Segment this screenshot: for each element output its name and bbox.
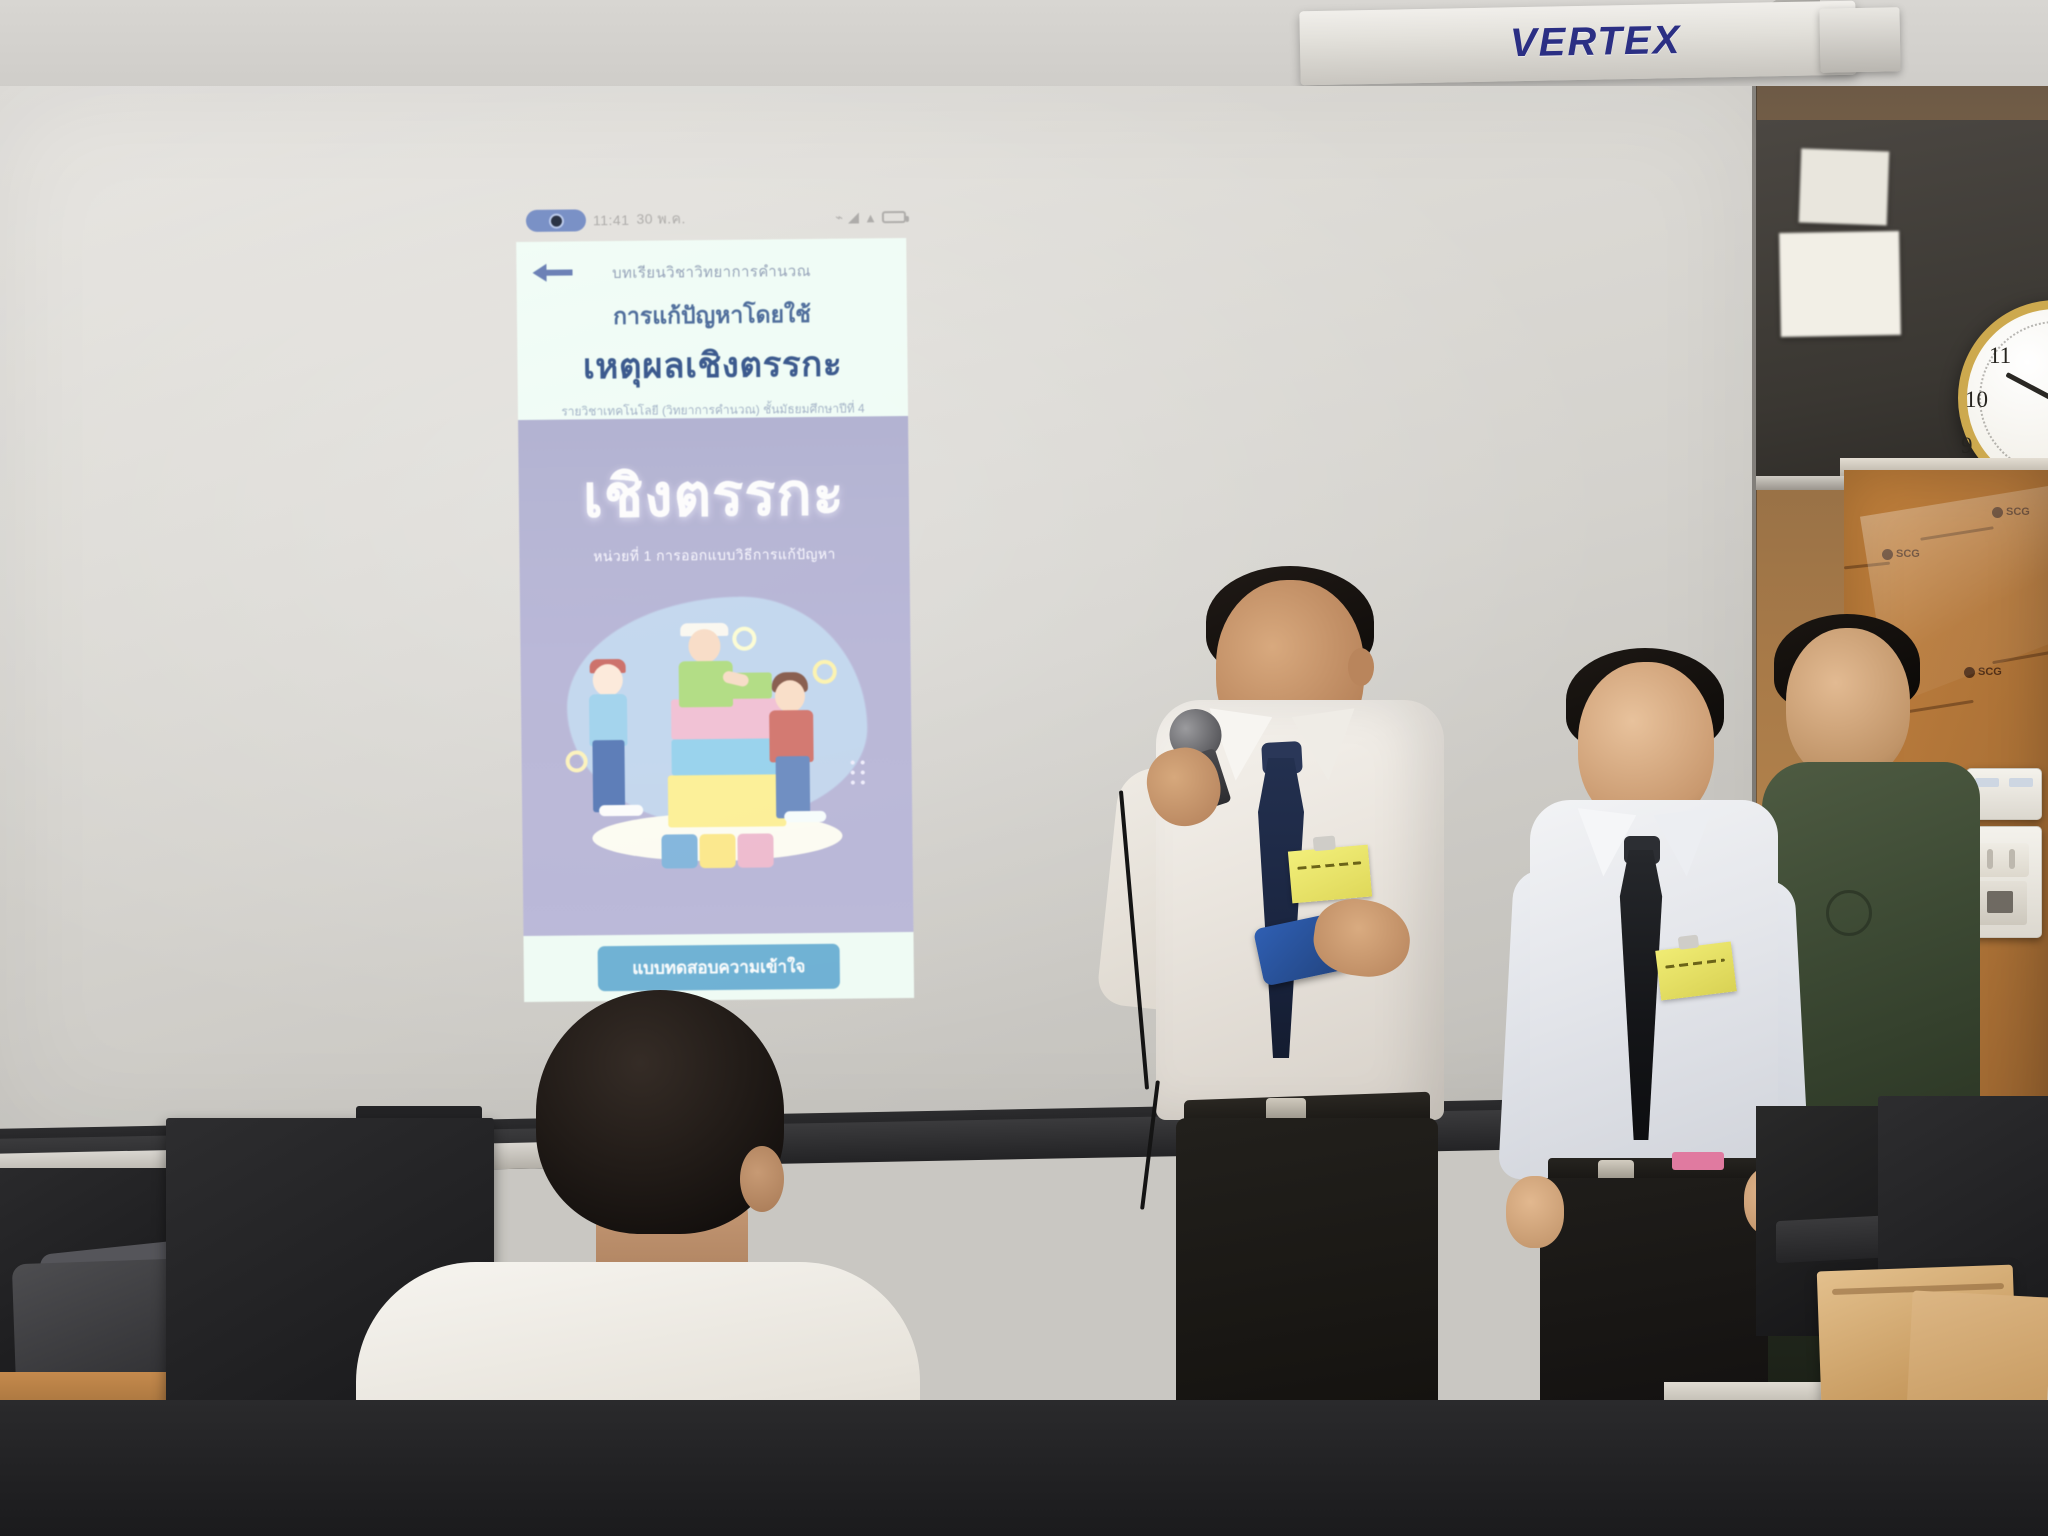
ear (740, 1146, 784, 1212)
illustration-person-left (581, 664, 639, 825)
puzzle-piece-blue (661, 834, 697, 868)
status-time: 11:41 (593, 212, 630, 228)
vertex-brand-logo: VERTEX (1510, 18, 1682, 66)
illustration-person-right (763, 672, 827, 825)
clock-numeral: 10 (1965, 387, 1988, 413)
left-hand (1506, 1176, 1564, 1248)
header-title-line2: เหตุผลเชิงตรรกะ (583, 337, 843, 395)
posted-paper (1799, 148, 1890, 225)
illustration-person-center (672, 625, 743, 736)
pink-badge (1672, 1152, 1724, 1170)
slide-unit-label: หน่วยที่ 1 การออกแบบวิธีการแก้ปัญหา (593, 544, 836, 569)
status-icons: ⌁ ▲ (835, 209, 906, 226)
clock-numeral: 11 (1989, 343, 2011, 369)
status-date: 30 พ.ค. (636, 208, 686, 231)
ear (1348, 648, 1374, 686)
meter-display (1975, 881, 2027, 925)
header-school-label: บทเรียนวิชาวิทยาการคำนวณ (612, 259, 811, 285)
slide-big-title: เชิงตรรกะ (582, 447, 845, 543)
face (1786, 628, 1910, 780)
header-title-line1: การแก้ปัญหาโดยใช้ (613, 297, 811, 335)
front-desk-panel (0, 1400, 2048, 1536)
projector-screen-housing: VERTEX (1299, 1, 1856, 86)
phone-status-bar: 11:41 30 พ.ค. ⌁ ▲ (526, 200, 906, 238)
name-tag-handwriting (1665, 958, 1725, 968)
hoodie-emblem (1826, 890, 1872, 936)
battery-icon (882, 211, 906, 223)
name-tag-handwriting (1297, 861, 1361, 870)
posted-paper (1779, 231, 1901, 337)
classroom-photo-scene: VERTEX 11:41 30 พ.ค. ⌁ ▲ บทเรียนวิชาวิทย (0, 0, 2048, 1536)
slide-body: เชิงตรรกะ หน่วยที่ 1 การออกแบบวิธีการแก้… (518, 416, 913, 940)
signal-icon (848, 212, 859, 223)
slide-footer: แบบทดสอบความเข้าใจ (523, 932, 914, 1002)
camera-cutout-icon (526, 209, 586, 232)
projected-phone-ui: 11:41 30 พ.ค. ⌁ ▲ บทเรียนวิชาวิทยาการคำน… (516, 208, 914, 1002)
clock-numeral: 9 (1961, 433, 1973, 459)
power-socket-icon (1973, 843, 2029, 877)
bluetooth-icon: ⌁ (835, 210, 843, 226)
slide-header: บทเรียนวิชาวิทยาการคำนวณ การแก้ปัญหาโดยใ… (516, 238, 908, 420)
back-arrow-icon[interactable] (530, 259, 574, 285)
decor-dots (850, 759, 872, 793)
name-tag (1655, 942, 1737, 1001)
name-tag (1288, 845, 1372, 904)
screen-housing-endcap (1819, 7, 1900, 73)
quiz-button[interactable]: แบบทดสอบความเข้าใจ (598, 943, 840, 991)
puzzle-piece-yellow (699, 834, 735, 868)
puzzle-piece-pink (737, 833, 773, 867)
wifi-icon: ▲ (864, 210, 877, 225)
puzzle-pieces-row (522, 818, 912, 870)
